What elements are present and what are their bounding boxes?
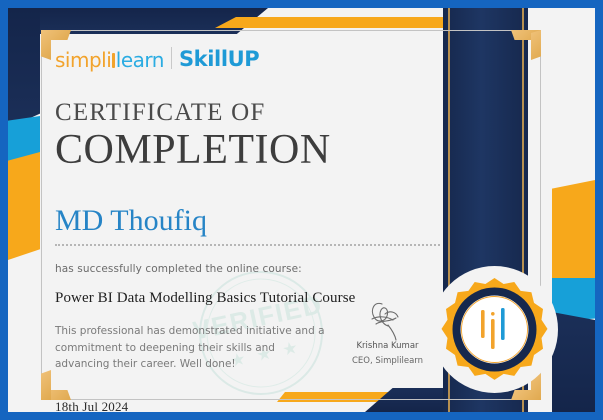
left-orange-band — [8, 152, 40, 260]
right-lower-navy-band — [552, 312, 595, 412]
logo-learn-text: learn — [116, 50, 164, 70]
certificate-title-line1: CERTIFICATE OF — [55, 100, 445, 126]
signatory-role: CEO, Simplilearn — [330, 356, 445, 366]
logo-divider — [171, 47, 172, 69]
logo-simpli-text: simpli — [55, 50, 111, 70]
signature-block: Krishna Kumar CEO, Simplilearn — [330, 298, 445, 366]
logo-tick-icon — [112, 53, 115, 68]
right-orange-band — [552, 180, 595, 288]
issue-date: 18th Jul 2024 — [55, 399, 445, 415]
signatory-name: Krishna Kumar — [330, 341, 445, 351]
top-orange-band — [215, 17, 477, 28]
verification-seal — [437, 272, 552, 387]
corner-bracket-top-right — [511, 30, 541, 60]
certificate-title-line2: COMPLETION — [55, 128, 445, 172]
intro-text: has successfully completed the online co… — [55, 263, 445, 275]
certificate-document: VERIFIED ★ ★ ★ simpli learn SkillUP CERT… — [0, 0, 603, 420]
logo-skillup-text: SkillUP — [179, 49, 259, 70]
congratulation-blurb: This professional has demonstrated initi… — [55, 323, 330, 372]
left-navy-band — [8, 8, 40, 128]
signature-mark-icon — [330, 298, 445, 340]
simplilearn-skillup-logo: simpli learn SkillUP — [55, 40, 445, 70]
recipient-underline — [55, 243, 440, 246]
recipient-name: MD Thoufiq — [55, 204, 445, 237]
